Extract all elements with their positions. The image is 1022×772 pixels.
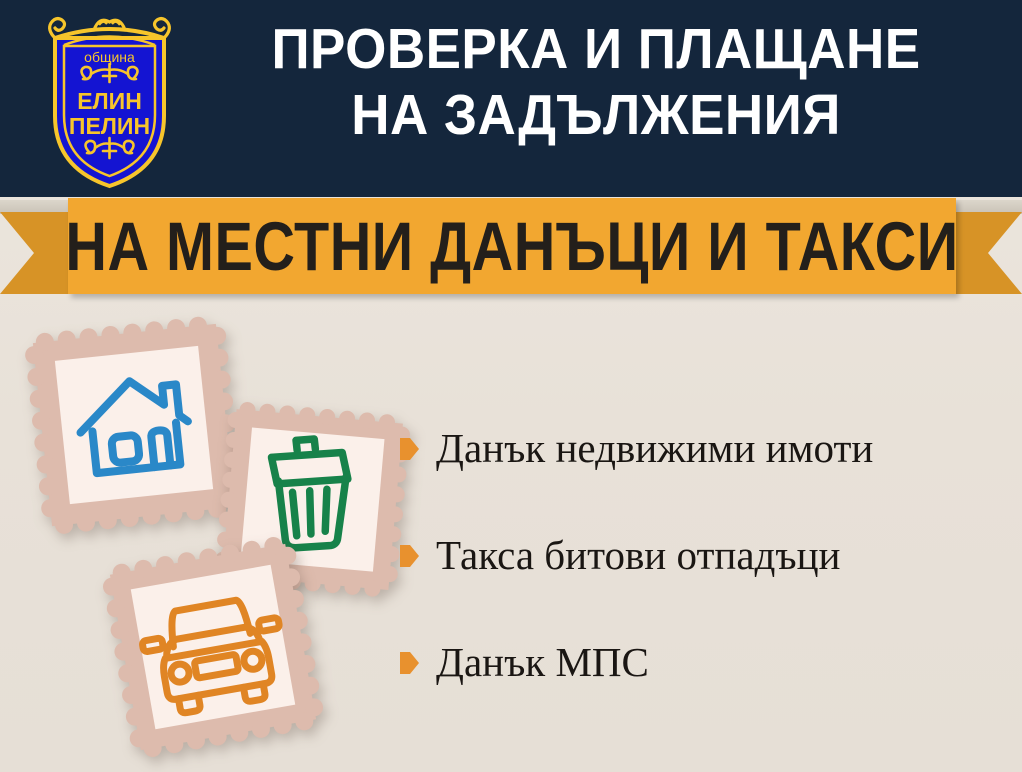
ribbon-banner: НА МЕСТНИ ДАНЪЦИ И ТАКСИ (0, 198, 1022, 294)
ribbon-main-panel: НА МЕСТНИ ДАНЪЦИ И ТАКСИ (68, 198, 956, 294)
ribbon-label: НА МЕСТНИ ДАНЪЦИ И ТАКСИ (86, 191, 938, 300)
list-item: Такса битови отпадъци (400, 532, 1015, 578)
list-item-label: Данък недвижими имоти (436, 425, 873, 471)
svg-text:община: община (84, 49, 135, 65)
stamp-card-car (98, 532, 328, 762)
bullet-arrow-icon (400, 652, 419, 674)
list-item: Данък МПС (400, 639, 1015, 685)
list-item-label: Данък МПС (436, 639, 649, 685)
poster-canvas: ПРОВЕРКА И ПЛАЩАНЕ НА ЗАДЪЛЖЕНИЯ община (0, 0, 1022, 772)
bullet-arrow-icon (400, 545, 419, 567)
list-item: Данък недвижими имоти (400, 425, 1015, 471)
municipality-emblem: община ЕЛИН ПЕЛИН (37, 8, 182, 190)
page-title: ПРОВЕРКА И ПЛАЩАНЕ НА ЗАДЪЛЖЕНИЯ (214, 16, 978, 148)
svg-text:ЕЛИН: ЕЛИН (77, 88, 142, 114)
svg-text:ПЕЛИН: ПЕЛИН (69, 113, 150, 139)
tax-type-list: Данък недвижими имоти Такса битови отпад… (400, 425, 1015, 685)
list-item-label: Такса битови отпадъци (436, 532, 840, 578)
bullet-arrow-icon (400, 438, 419, 460)
